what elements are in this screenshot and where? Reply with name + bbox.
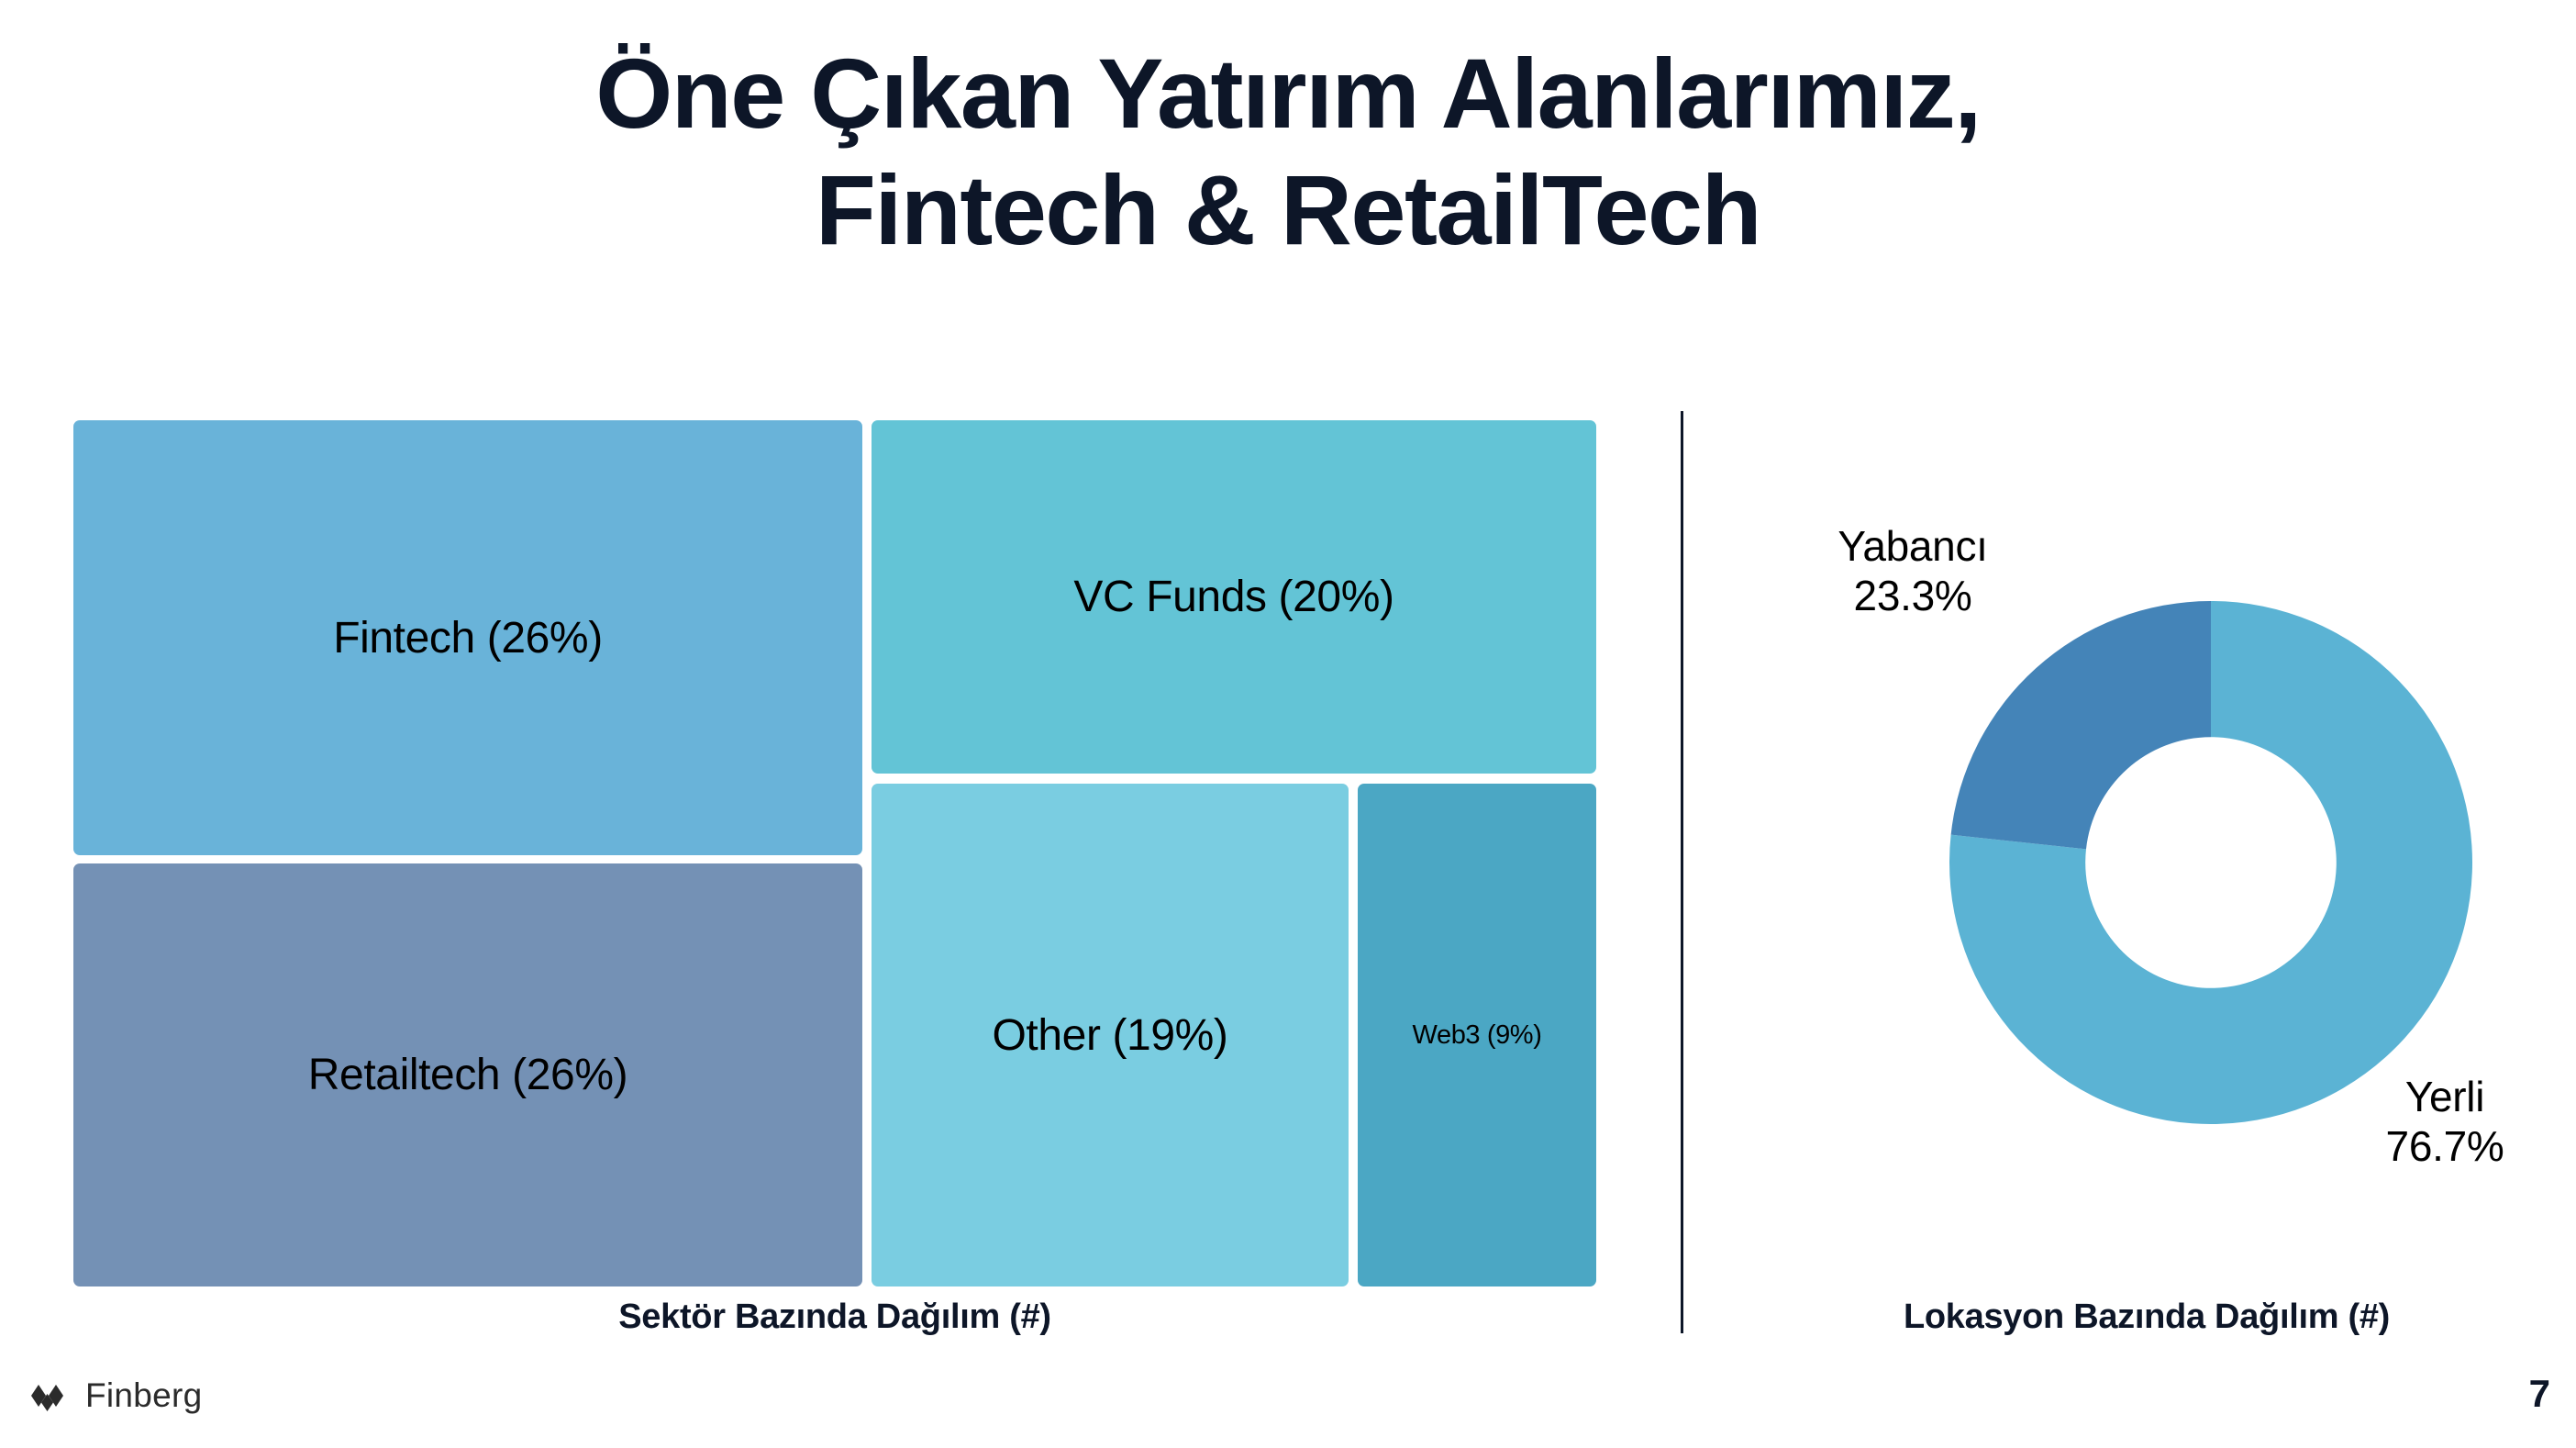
donut-slice-yabanc-[interactable] — [1951, 601, 2211, 849]
sector-chart-caption: Sektör Bazında Dağılım (#) — [73, 1298, 1596, 1337]
finberg-logo-text: Finberg — [85, 1376, 203, 1415]
treemap-tile-vc-funds-label: VC Funds (20%) — [1073, 572, 1393, 622]
treemap-tile-other-label: Other (19%) — [992, 1010, 1227, 1061]
vertical-divider — [1681, 411, 1683, 1333]
treemap-tile-vc-funds[interactable]: VC Funds (20%) — [872, 420, 1596, 774]
page-number: 7 — [2529, 1372, 2550, 1416]
location-chart-caption: Lokasyon Bazında Dağılım (#) — [1743, 1298, 2550, 1337]
treemap-tile-web3[interactable]: Web3 (9%) — [1358, 784, 1596, 1286]
treemap-tile-other[interactable]: Other (19%) — [872, 784, 1349, 1286]
treemap-tile-retailtech[interactable]: Retailtech (26%) — [73, 863, 862, 1286]
treemap-tile-fintech[interactable]: Fintech (26%) — [73, 420, 862, 855]
donut-label-yabanci: Yabancı 23.3% — [1775, 521, 2050, 621]
treemap-tile-web3-label: Web3 (9%) — [1413, 1020, 1542, 1051]
three-diamonds-icon — [28, 1377, 73, 1414]
donut-svg — [1949, 601, 2472, 1124]
treemap-tile-fintech-label: Fintech (26%) — [333, 613, 603, 663]
treemap-tile-retailtech-label: Retailtech (26%) — [308, 1050, 627, 1100]
finberg-logo: Finberg — [28, 1376, 203, 1415]
location-donut-chart — [1949, 601, 2472, 1124]
donut-label-yerli: Yerli 76.7% — [2321, 1072, 2569, 1172]
sector-treemap-chart: Fintech (26%) Retailtech (26%) VC Funds … — [73, 420, 1596, 1286]
page-title: Öne Çıkan Yatırım Alanlarımız, Fintech &… — [0, 35, 2576, 269]
